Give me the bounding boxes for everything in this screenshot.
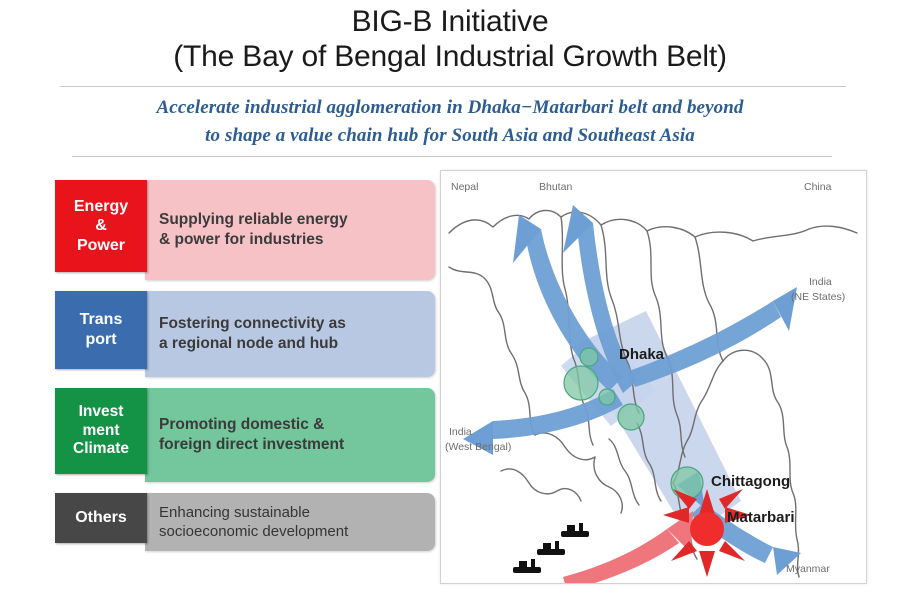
pillar-tag-line: Climate: [73, 440, 129, 459]
map-city-label-matarbari: Matarbari: [727, 509, 795, 526]
pillar-tag-line: Energy: [74, 197, 128, 217]
map-label-india-west-bengal-sub: (West Bengal): [445, 441, 511, 453]
divider-bottom: [72, 156, 832, 157]
pillar-item-others[interactable]: Others Enhancing sustainable socioeconom…: [55, 493, 435, 551]
map-label-nepal: Nepal: [451, 181, 478, 193]
pillar-desc-line: Supplying reliable energy: [159, 210, 425, 230]
map-label-india-ne-states-sub: (NE States): [791, 291, 845, 303]
subtitle-line-1: Accelerate industrial agglomeration in D…: [0, 94, 900, 122]
pillar-desc-line: & power for industries: [159, 230, 425, 250]
title-line-1: BIG-B Initiative: [0, 4, 900, 39]
pillar-desc-others: Enhancing sustainable socioeconomic deve…: [145, 493, 435, 551]
pillar-item-investment-climate[interactable]: Invest ment Climate Promoting domestic &…: [55, 388, 435, 482]
map-label-myanmar: Myanmar: [786, 563, 830, 575]
pillar-desc-line: socioeconomic development: [159, 522, 425, 541]
subtitle-line-2: to shape a value chain hub for South Asi…: [0, 122, 900, 150]
red-inbound-arrow: [563, 511, 693, 583]
pillar-tag-line: ment: [82, 422, 119, 441]
pillar-item-energy-power[interactable]: Energy & Power Supplying reliable energy…: [55, 180, 435, 280]
pillar-desc-line: Promoting domestic &: [159, 415, 425, 435]
page-subtitle: Accelerate industrial agglomeration in D…: [0, 94, 900, 149]
ship-icons: [513, 523, 589, 573]
pillar-tag-others: Others: [55, 493, 147, 543]
pillar-tag-line: port: [85, 330, 116, 350]
pillar-tag-transport: Trans port: [55, 291, 147, 369]
divider-top: [60, 86, 846, 87]
pillar-tag-line: Power: [77, 236, 125, 256]
pillar-tag-line: Others: [75, 508, 127, 528]
pillar-desc-line: a regional node and hub: [159, 334, 425, 354]
pillar-desc-energy-power: Supplying reliable energy & power for in…: [145, 180, 435, 280]
map-label-india-west-bengal: India: [449, 426, 472, 438]
map-label-bhutan: Bhutan: [539, 181, 572, 193]
map-graphic: [441, 171, 866, 583]
pillar-tag-line: &: [95, 216, 107, 236]
pillar-tag-investment-climate: Invest ment Climate: [55, 388, 147, 474]
title-line-2: (The Bay of Bengal Industrial Growth Bel…: [0, 39, 900, 74]
pillar-tag-energy-power: Energy & Power: [55, 180, 147, 272]
map-panel[interactable]: Nepal Bhutan China India (NE States) Ind…: [440, 170, 867, 584]
pillar-desc-line: foreign direct investment: [159, 435, 425, 455]
pillar-desc-transport: Fostering connectivity as a regional nod…: [145, 291, 435, 377]
pillar-tag-line: Invest: [79, 403, 124, 422]
pillar-desc-line: Enhancing sustainable: [159, 503, 425, 522]
pillar-desc-investment-climate: Promoting domestic & foreign direct inve…: [145, 388, 435, 482]
page-title: BIG-B Initiative (The Bay of Bengal Indu…: [0, 4, 900, 75]
map-label-india-ne-states: India: [809, 276, 832, 288]
map-city-label-dhaka: Dhaka: [619, 346, 664, 363]
pillar-list: Energy & Power Supplying reliable energy…: [55, 180, 435, 562]
map-city-label-chittagong: Chittagong: [711, 473, 790, 490]
pillar-item-transport[interactable]: Trans port Fostering connectivity as a r…: [55, 291, 435, 377]
map-label-china: China: [804, 181, 831, 193]
pillar-desc-line: Fostering connectivity as: [159, 314, 425, 334]
pillar-tag-line: Trans: [80, 310, 123, 330]
